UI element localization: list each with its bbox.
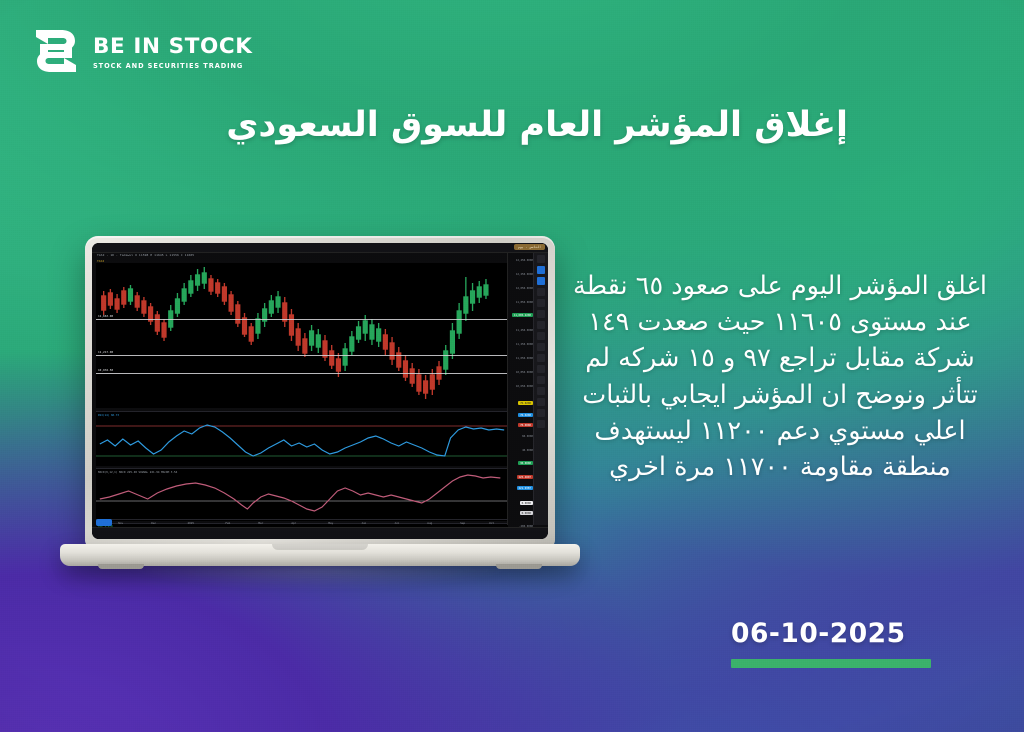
candlestick-chart bbox=[96, 263, 508, 408]
two-arrows-b-logo-icon bbox=[30, 24, 82, 78]
laptop-reflection bbox=[100, 566, 540, 596]
axis-tick: 11,850.0000 bbox=[516, 301, 533, 304]
price-reference-line-1 bbox=[96, 319, 508, 320]
last-price-badge: 11,605.2200 bbox=[512, 313, 533, 317]
hide-tool-icon[interactable] bbox=[537, 409, 545, 417]
signal-badge: 221.9387 bbox=[517, 486, 534, 490]
time-tick: Jul bbox=[394, 521, 399, 525]
date-label: 06-10-2025 bbox=[731, 618, 941, 649]
axis-tick: 11,450.0000 bbox=[516, 329, 533, 332]
price-reference-line-3 bbox=[96, 373, 508, 374]
price-label-1: 11,663.00 bbox=[98, 314, 113, 318]
rsi-overbought-badge: 70.0000 bbox=[518, 423, 533, 427]
macd-panel[interactable]: MACD(9,12,1) MACD 225.48 SIGNAL 221.94 M… bbox=[96, 468, 508, 521]
axis-tick: 12,050.0000 bbox=[516, 287, 533, 290]
price-label-2: 11,217.00 bbox=[98, 350, 113, 354]
rectangle-tool-icon[interactable] bbox=[537, 310, 545, 318]
price-label-3: 10,932.50 bbox=[98, 368, 113, 372]
price-panel[interactable]: 11,663.00 11,217.00 10,932.50 bbox=[96, 263, 508, 408]
axis-tick: 12,450.0000 bbox=[516, 259, 533, 262]
rsi-oversold-badge: 30.0000 bbox=[518, 461, 533, 465]
axis-tick: 12,250.0000 bbox=[516, 273, 533, 276]
laptop-mockup: التاسي - يوم TASI · 1D · Tadawul O 11598… bbox=[60, 236, 580, 586]
rsi-legend: RSI(14) 60.73 bbox=[98, 413, 119, 417]
magnet-tool-icon[interactable] bbox=[537, 365, 545, 373]
rsi-panel[interactable]: RSI(14) 60.73 bbox=[96, 411, 508, 466]
trash-tool-icon[interactable] bbox=[537, 420, 545, 428]
time-axis[interactable]: Nov Dec 2025 Feb Mar Apr May Jun Jul Aug… bbox=[96, 519, 508, 527]
time-tick: Dec bbox=[151, 521, 156, 525]
axis-tick: 11,250.0000 bbox=[516, 343, 533, 346]
time-tick: Apr bbox=[291, 521, 296, 525]
time-tick: Feb bbox=[225, 521, 230, 525]
terminal-title-badge: التاسي - يوم bbox=[514, 244, 545, 250]
macd-chart bbox=[96, 469, 508, 521]
poster-canvas: BE IN STOCK STOCK AND SECURITIES TRADING… bbox=[0, 0, 1024, 732]
rsi-chart bbox=[96, 412, 508, 466]
body-text: اغلق المؤشر اليوم على صعود ٦٥ نقطة عند م… bbox=[560, 268, 1000, 485]
page-title: إغلاق المؤشر العام للسوق السعودي bbox=[168, 104, 848, 148]
axis-tick: 10,650.0000 bbox=[516, 385, 533, 388]
ruler-tool-icon[interactable] bbox=[537, 288, 545, 296]
time-tick: Aug bbox=[427, 521, 432, 525]
macd-badge: 225.4807 bbox=[517, 475, 534, 479]
cursor-tool-icon[interactable] bbox=[537, 255, 545, 263]
laptop-notch bbox=[272, 544, 368, 550]
date-block: 06-10-2025 bbox=[731, 618, 941, 668]
wifi-status-button[interactable] bbox=[96, 519, 112, 526]
axis-tick: 10,850.0000 bbox=[516, 371, 533, 374]
axis-tick: 11,050.0000 bbox=[516, 357, 533, 360]
emoji-tool-icon[interactable] bbox=[537, 354, 545, 362]
terminal-statusbar[interactable] bbox=[92, 527, 548, 539]
time-tick: Sep bbox=[460, 521, 465, 525]
measure-tool-icon[interactable] bbox=[537, 376, 545, 384]
macd-zero-badge-2: 0.0000 bbox=[520, 511, 533, 515]
time-tick: Mar bbox=[258, 521, 263, 525]
drawing-toolbar[interactable] bbox=[533, 253, 548, 525]
time-tick: Oct bbox=[489, 521, 494, 525]
terminal-ohlc-legend: TASI · 1D · Tadawul O 11598 H 11645 L 11… bbox=[97, 253, 194, 257]
fib-tool-icon[interactable] bbox=[537, 299, 545, 307]
brush-tool-icon[interactable] bbox=[537, 321, 545, 329]
macd-legend: MACD(9,12,1) MACD 225.48 SIGNAL 221.94 M… bbox=[98, 470, 177, 474]
shapes-tool-icon[interactable] bbox=[537, 343, 545, 351]
laptop-lid: التاسي - يوم TASI · 1D · Tadawul O 11598… bbox=[85, 236, 555, 548]
brand-tagline: STOCK AND SECURITIES TRADING bbox=[93, 62, 253, 70]
lock-tool-icon[interactable] bbox=[537, 398, 545, 406]
time-tick: May bbox=[328, 521, 333, 525]
time-tick: Jun bbox=[361, 521, 366, 525]
rsi-value-badge: 76.0200 bbox=[518, 413, 533, 417]
zoom-tool-icon[interactable] bbox=[537, 387, 545, 395]
axis-tick: 60.0000 bbox=[522, 435, 533, 438]
brand-name: BE IN STOCK bbox=[93, 36, 253, 58]
price-reference-line-2 bbox=[96, 355, 508, 356]
axis-tick: 40.0000 bbox=[522, 449, 533, 452]
macd-zero-badge: 0.0000 bbox=[520, 501, 533, 505]
brand-logo: BE IN STOCK STOCK AND SECURITIES TRADING bbox=[30, 24, 253, 78]
date-underline bbox=[731, 659, 931, 668]
laptop-base bbox=[60, 544, 580, 566]
time-tick: 2025 bbox=[188, 521, 194, 525]
crosshair-tool-icon[interactable] bbox=[537, 266, 545, 274]
terminal-titlebar: التاسي - يوم bbox=[92, 243, 548, 253]
alert-badge: 76.0200 bbox=[518, 401, 533, 405]
time-tick: Nov bbox=[118, 521, 123, 525]
trendline-tool-icon[interactable] bbox=[537, 277, 545, 285]
laptop-screen: التاسي - يوم TASI · 1D · Tadawul O 11598… bbox=[92, 243, 548, 539]
trading-terminal: التاسي - يوم TASI · 1D · Tadawul O 11598… bbox=[92, 243, 548, 539]
brand-wordmark: BE IN STOCK STOCK AND SECURITIES TRADING bbox=[93, 32, 253, 70]
price-axis: 12,450.0000 12,250.0000 12,050.0000 11,8… bbox=[507, 253, 534, 525]
text-tool-icon[interactable] bbox=[537, 332, 545, 340]
